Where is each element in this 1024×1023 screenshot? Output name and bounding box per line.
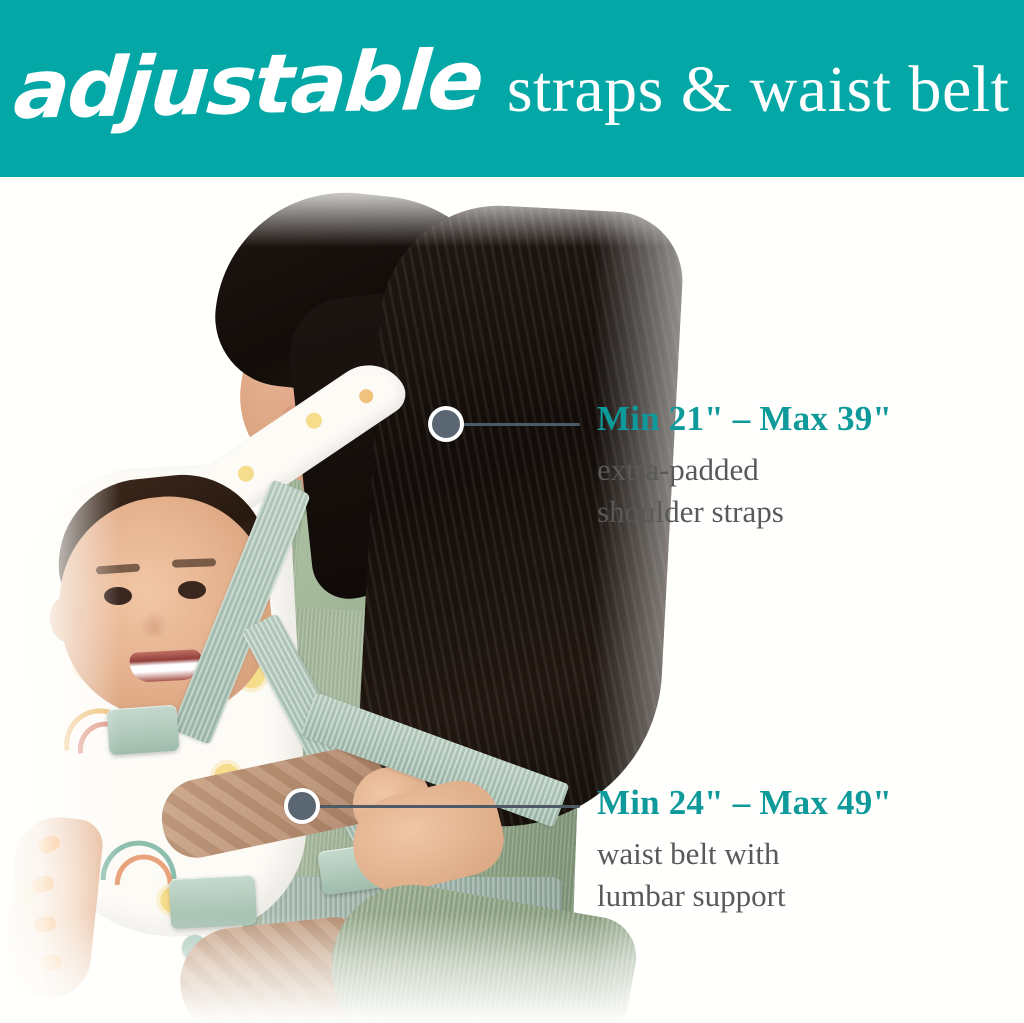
callout-subtitle-waist-belt: waist belt with lumbar support xyxy=(597,833,892,919)
callout-subtitle-shoulder-straps: extra-padded shoulder straps xyxy=(597,449,892,535)
callout-marker-waist-belt[interactable] xyxy=(284,788,320,824)
rainbow-print xyxy=(100,840,177,880)
baby-eye xyxy=(104,587,132,605)
header-banner: adjustable straps & waist belt xyxy=(0,0,1024,177)
sun-print xyxy=(357,386,376,405)
callout-marker-shoulder-straps[interactable] xyxy=(428,406,464,442)
infographic-canvas: adjustable straps & waist belt xyxy=(0,0,1024,1023)
header-text-group: adjustable straps & waist belt xyxy=(0,0,1024,177)
callout-title-shoulder-straps: Min 21" – Max 39" xyxy=(597,400,892,439)
baby-eyebrow xyxy=(172,558,216,568)
callout-title-waist-belt: Min 24" – Max 49" xyxy=(597,784,892,823)
callout-leader-line-waist-belt xyxy=(302,805,580,808)
sun-print xyxy=(303,410,325,432)
header-rest-text: straps & waist belt xyxy=(507,52,1010,128)
sun-print xyxy=(235,463,257,485)
baby-eye xyxy=(178,581,206,599)
callout-text-shoulder-straps: Min 21" – Max 39" extra-padded shoulder … xyxy=(597,400,892,534)
header-script-word: adjustable xyxy=(10,33,485,138)
mother-fingernail xyxy=(40,955,62,970)
callout-text-waist-belt: Min 24" – Max 49" waist belt with lumbar… xyxy=(597,784,892,918)
strap-buckle xyxy=(106,705,179,756)
baby-nose xyxy=(140,611,168,637)
callout-leader-line-shoulder-straps xyxy=(446,423,580,426)
waist-buckle xyxy=(169,875,257,929)
